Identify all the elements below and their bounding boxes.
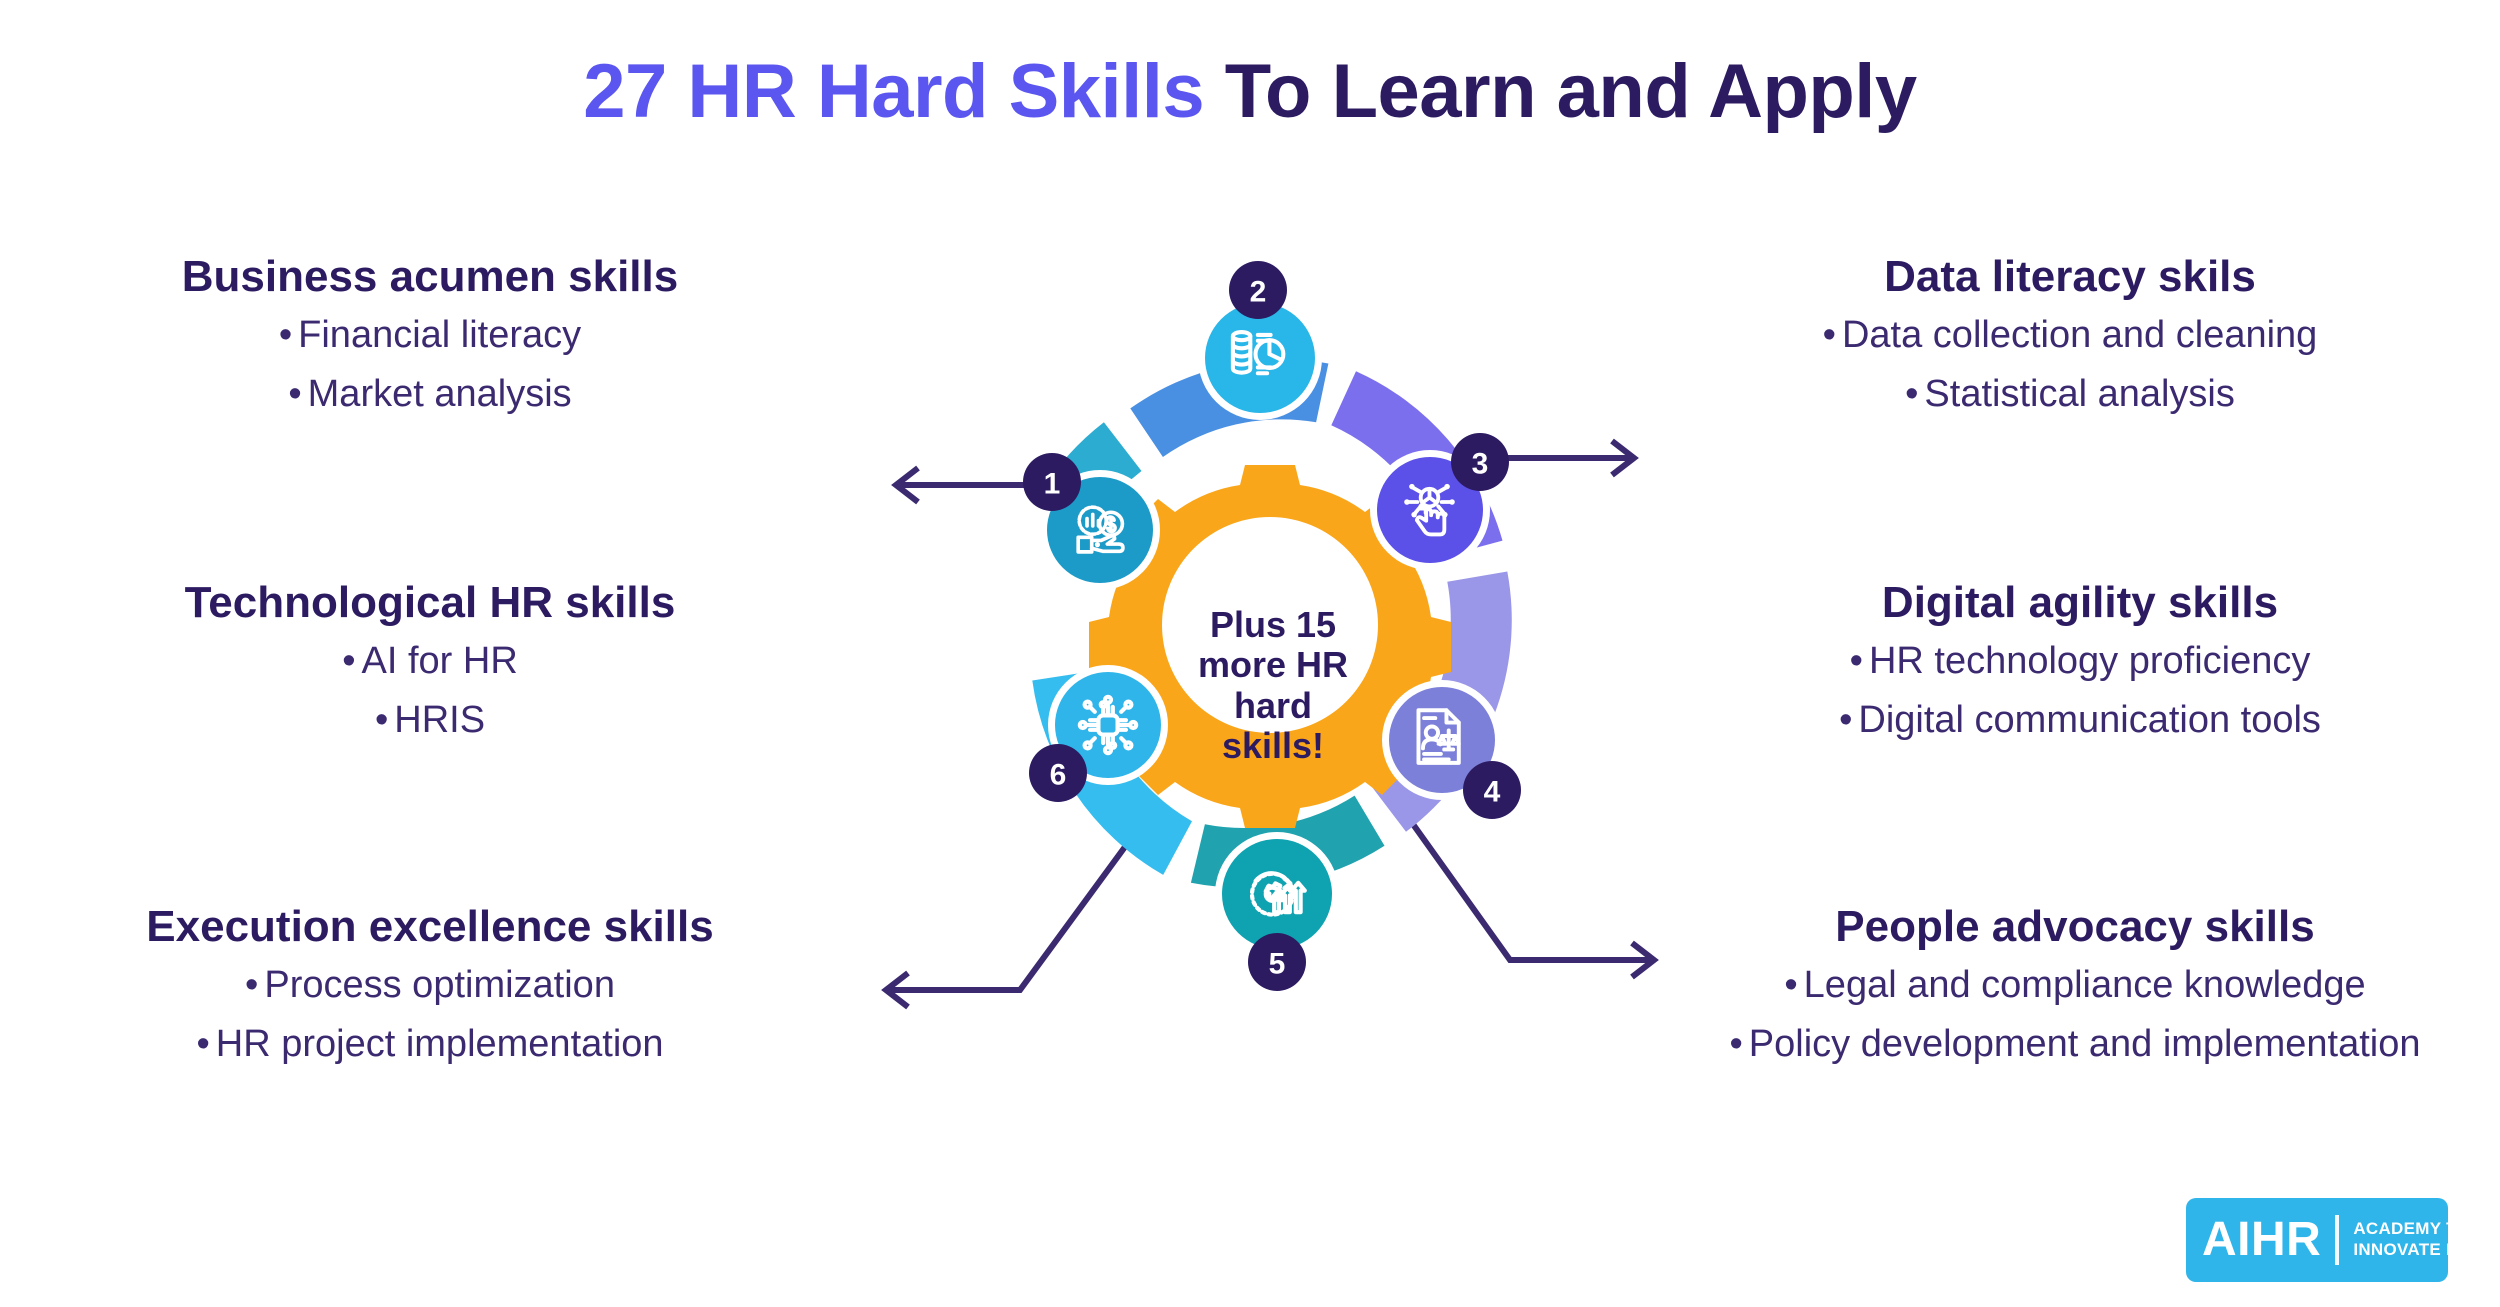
skill-heading-business-acumen: Business acumen skills [60, 252, 800, 301]
skill-heading-execution-excellence: Execution excellence skills [35, 902, 825, 951]
aihr-logo[interactable]: AIHR ACADEMY TO INNOVATE HR [2186, 1198, 2448, 1282]
list-item: •Statistical analysis [1700, 370, 2440, 419]
skill-block-data-literacy: Data literacy skils •Data collection and… [1700, 252, 2440, 419]
bullet-text: Process optimization [264, 964, 615, 1006]
skill-block-business-acumen: Business acumen skills •Financial litera… [60, 252, 800, 419]
skill-block-digital-agility: Digital agility skills •HR technology pr… [1710, 578, 2450, 745]
bullet-text: Policy development and implementation [1749, 1023, 2421, 1065]
node-5[interactable]: 5 [1215, 832, 1339, 991]
bullet-text: Market analysis [308, 373, 572, 415]
skill-bullets-data-literacy: •Data collection and cleaning •Statistic… [1700, 311, 2440, 418]
bullet-text: Statistical analysis [1924, 373, 2234, 415]
bullet-icon: • [196, 1023, 209, 1065]
badge-3-number: 3 [1472, 448, 1489, 481]
bullet-icon: • [1823, 314, 1836, 356]
bullet-text: AI for HR [362, 640, 518, 682]
bullet-text: HR technology proficiency [1869, 640, 2310, 682]
badge-6: 6 [1029, 744, 1087, 802]
skill-bullets-people-advocacy: •Legal and compliance knowledge •Policy … [1690, 961, 2460, 1068]
bullet-icon: • [1850, 640, 1863, 682]
badge-5: 5 [1248, 933, 1306, 991]
skill-block-execution-excellence: Execution excellence skills •Process opt… [35, 902, 825, 1069]
skill-block-technological-hr: Technological HR skills •AI for HR •HRIS [60, 578, 800, 745]
bullet-text: Legal and compliance knowledge [1804, 964, 2366, 1006]
skill-block-people-advocacy: People advocacy skills •Legal and compli… [1690, 902, 2460, 1069]
badge-1-number: 1 [1044, 468, 1061, 501]
bullet-text: HR project implementation [216, 1023, 664, 1065]
skill-bullets-execution-excellence: •Process optimization •HR project implem… [35, 961, 825, 1068]
skills-wheel-diagram: .ico{fill:none;stroke:#ffffff;stroke-wid… [770, 200, 1770, 1120]
node-2-circle [1205, 303, 1315, 413]
skill-bullets-technological-hr: •AI for HR •HRIS [60, 637, 800, 744]
list-item: •HR technology proficiency [1710, 637, 2450, 686]
bullet-icon: • [1784, 964, 1797, 1006]
list-item: •Financial literacy [60, 311, 800, 360]
list-item: •HRIS [60, 696, 800, 745]
skill-bullets-business-acumen: •Financial literacy •Market analysis [60, 311, 800, 418]
skill-bullets-digital-agility: •HR technology proficiency •Digital comm… [1710, 637, 2450, 744]
page-title-plain: To Learn and Apply [1204, 49, 1917, 134]
page-title: 27 HR Hard Skills To Learn and Apply [0, 48, 2500, 135]
list-item: •Data collection and cleaning [1700, 311, 2440, 360]
skill-heading-people-advocacy: People advocacy skills [1690, 902, 2460, 951]
badge-2: 2 [1229, 261, 1287, 319]
badge-4-number: 4 [1484, 776, 1501, 809]
skill-heading-digital-agility: Digital agility skills [1710, 578, 2450, 627]
bullet-text: Digital communication tools [1858, 699, 2321, 741]
bullet-icon: • [342, 640, 355, 682]
badge-5-number: 5 [1269, 948, 1286, 981]
list-item: •Process optimization [35, 961, 825, 1010]
bullet-icon: • [245, 964, 258, 1006]
skill-heading-data-literacy: Data literacy skils [1700, 252, 2440, 301]
bullet-icon: • [288, 373, 301, 415]
bullet-text: Financial literacy [298, 314, 581, 356]
connector-line-4 [1410, 820, 1650, 960]
list-item: •Legal and compliance knowledge [1690, 961, 2460, 1010]
connector-line-5 [890, 840, 1130, 990]
infographic-canvas: 27 HR Hard Skills To Learn and Apply Bus… [0, 0, 2500, 1307]
badge-3: 3 [1451, 433, 1509, 491]
logo-divider [2335, 1215, 2339, 1265]
logo-tagline-line2: INNOVATE HR [2353, 1240, 2471, 1261]
badge-1: 1 [1023, 453, 1081, 511]
bullet-icon: • [279, 314, 292, 356]
logo-tagline-line1: ACADEMY TO [2353, 1219, 2471, 1240]
logo-wordmark: AIHR [2202, 1216, 2321, 1264]
badge-4: 4 [1463, 761, 1521, 819]
logo-tagline: ACADEMY TO INNOVATE HR [2353, 1219, 2471, 1260]
list-item: •Digital communication tools [1710, 696, 2450, 745]
badge-6-number: 6 [1050, 759, 1067, 792]
bullet-icon: • [375, 699, 388, 741]
list-item: •HR project implementation [35, 1020, 825, 1069]
list-item: •Policy development and implementation [1690, 1020, 2460, 1069]
bullet-icon: • [1905, 373, 1918, 415]
bullet-text: HRIS [394, 699, 485, 741]
skill-heading-technological-hr: Technological HR skills [60, 578, 800, 627]
page-title-accent: 27 HR Hard Skills [583, 49, 1204, 134]
list-item: •Market analysis [60, 370, 800, 419]
bullet-text: Data collection and cleaning [1842, 314, 2317, 356]
badge-2-number: 2 [1250, 276, 1267, 309]
list-item: •AI for HR [60, 637, 800, 686]
bullet-icon: • [1839, 699, 1852, 741]
node-2[interactable]: 2 [1198, 261, 1322, 420]
